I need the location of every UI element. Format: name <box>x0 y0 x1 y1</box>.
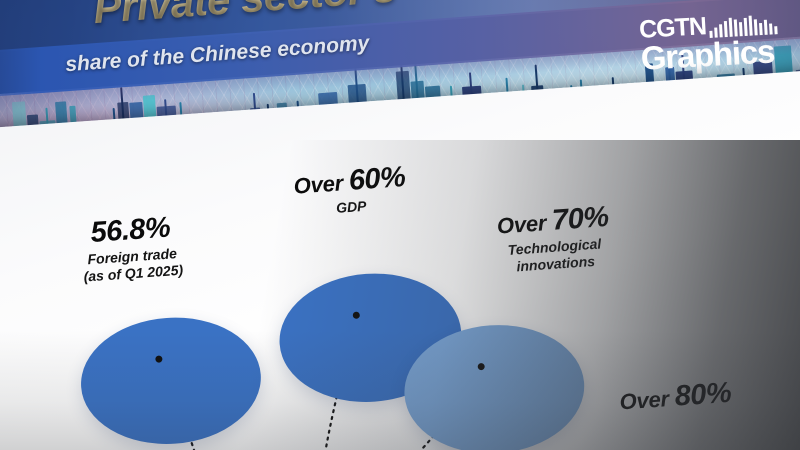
label-foreign-trade-value: 56.8% <box>89 212 171 250</box>
label-bottom-right-value: 80% <box>674 377 733 414</box>
label-gdp-value: 60% <box>348 161 407 198</box>
label-gdp-prefix: Over <box>293 170 344 199</box>
infographic-canvas: Private sector's share of the Chinese ec… <box>0 0 800 450</box>
label-bottom-right-prefix: Over <box>619 386 670 415</box>
label-tech-value: 70% <box>551 201 610 238</box>
logo-product-text: Graphics <box>640 35 779 74</box>
bar-chart-icon <box>709 14 778 38</box>
label-tech-prefix: Over <box>496 210 547 239</box>
cgtn-graphics-logo: CGTN Graphics <box>639 10 780 74</box>
content-panel-inner: 0% 56.8% Foreign trade (as of Q1 2025) O… <box>0 64 800 450</box>
content-panel: 0% 56.8% Foreign trade (as of Q1 2025) O… <box>0 64 800 450</box>
